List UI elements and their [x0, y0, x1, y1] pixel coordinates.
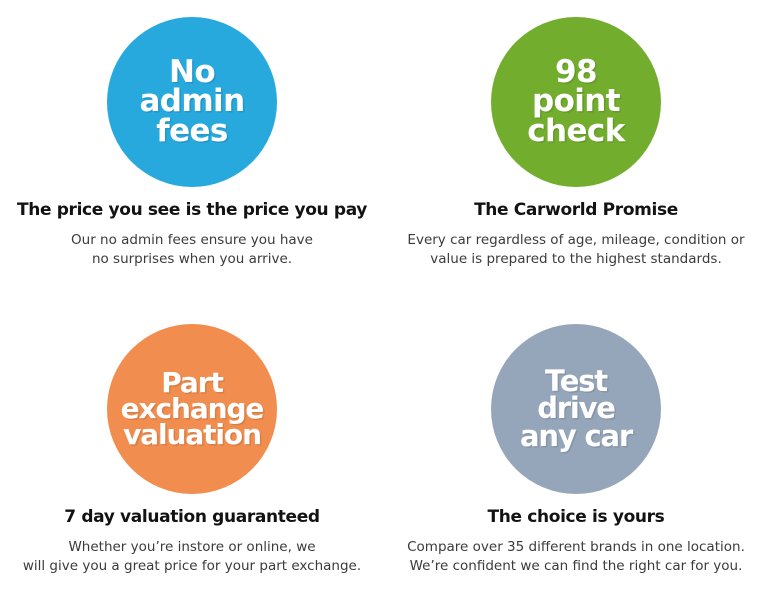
- benefit-card-part-exchange-valuation: Part exchange valuation 7 day valuation …: [0, 307, 384, 614]
- card-heading: The price you see is the price you pay: [17, 201, 367, 221]
- badge-circle-test-drive-any-car: Test drive any car: [491, 324, 661, 494]
- card-heading: The choice is yours: [488, 508, 665, 528]
- badge-label: 98 point check: [525, 58, 626, 145]
- card-body-text: Whether you’re instore or online, we wil…: [23, 538, 361, 576]
- card-heading: The Carworld Promise: [474, 201, 678, 221]
- card-body-text: Every car regardless of age, mileage, co…: [407, 231, 744, 269]
- card-body-text: Our no admin fees ensure you have no sur…: [71, 231, 313, 269]
- badge-label: Test drive any car: [518, 368, 634, 450]
- benefit-card-98-point-check: 98 point check The Carworld Promise Ever…: [384, 0, 768, 307]
- card-heading: 7 day valuation guaranteed: [64, 508, 319, 528]
- badge-circle-no-admin-fees: No admin fees: [107, 17, 277, 187]
- benefit-card-test-drive-any-car: Test drive any car The choice is yours C…: [384, 307, 768, 614]
- card-body-text: Compare over 35 different brands in one …: [407, 538, 745, 576]
- benefits-grid: No admin fees The price you see is the p…: [0, 0, 768, 614]
- badge-circle-98-point-check: 98 point check: [491, 17, 661, 187]
- badge-circle-part-exchange-valuation: Part exchange valuation: [107, 324, 277, 494]
- badge-label: Part exchange valuation: [119, 370, 266, 449]
- benefit-card-no-admin-fees: No admin fees The price you see is the p…: [0, 0, 384, 307]
- badge-label: No admin fees: [137, 58, 246, 145]
